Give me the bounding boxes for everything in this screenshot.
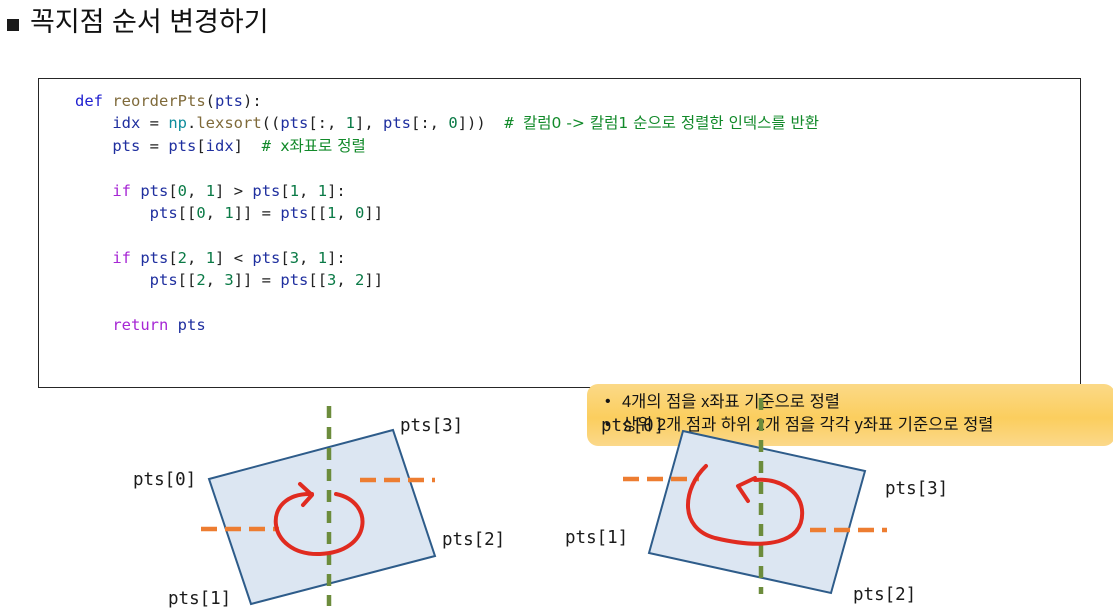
code-token: , bbox=[299, 249, 318, 267]
point-label-pts1: pts[1] bbox=[168, 589, 231, 609]
code-token: pts bbox=[280, 114, 308, 132]
page-title-text: 꼭지점 순서 변경하기 bbox=[30, 8, 269, 38]
code-token: 0 bbox=[178, 182, 187, 200]
square-bullet-icon bbox=[7, 19, 19, 31]
code-token: ]] = bbox=[234, 204, 281, 222]
quad-shape bbox=[209, 430, 435, 604]
code-token: 3 bbox=[224, 271, 233, 289]
code-token: 3 bbox=[327, 271, 336, 289]
code-token: pts bbox=[140, 182, 168, 200]
code-token: pts bbox=[150, 204, 178, 222]
page-title: 꼭지점 순서 변경하기 bbox=[7, 8, 269, 38]
code-token: ): bbox=[243, 92, 262, 110]
code-token: idx bbox=[112, 114, 149, 132]
point-label-pts3: pts[3] bbox=[400, 416, 463, 436]
code-token: . bbox=[187, 114, 196, 132]
code-token: , bbox=[299, 182, 318, 200]
code-token: , bbox=[187, 182, 206, 200]
code-line: def reorderPts(pts): bbox=[75, 90, 819, 112]
code-token: pts bbox=[252, 182, 280, 200]
code-line: pts = pts[idx] # x좌표로 정렬 bbox=[75, 135, 819, 157]
point-label-pts2: pts[2] bbox=[853, 585, 916, 605]
code-token: # bbox=[262, 137, 281, 155]
code-line: pts[[2, 3]] = pts[[3, 2]] bbox=[75, 269, 819, 291]
code-token: [ bbox=[196, 137, 205, 155]
code-token: [ bbox=[280, 182, 289, 200]
code-token: , bbox=[336, 204, 355, 222]
code-token: [[ bbox=[178, 271, 197, 289]
code-token: [[ bbox=[178, 204, 197, 222]
code-token: pts bbox=[112, 137, 149, 155]
diagram-after-reorder: pts[0] pts[1] pts[2] pts[3] bbox=[565, 398, 1035, 612]
code-token: pts bbox=[150, 271, 178, 289]
code-token: 칼럼0 -> 칼럼1 순으로 정렬한 인덱스를 반환 bbox=[523, 114, 819, 132]
code-token: 1 bbox=[206, 249, 215, 267]
code-token: 1 bbox=[206, 182, 215, 200]
code-token: ] < bbox=[215, 249, 252, 267]
code-listing[interactable]: def reorderPts(pts): idx = np.lexsort((p… bbox=[75, 90, 819, 336]
code-token: pts bbox=[140, 249, 168, 267]
code-token: 1 bbox=[346, 114, 355, 132]
code-token: [[ bbox=[308, 271, 327, 289]
code-token: 1 bbox=[318, 249, 327, 267]
point-label-pts0: pts[0] bbox=[133, 470, 196, 490]
code-token: pts bbox=[252, 249, 280, 267]
code-token: pts bbox=[383, 114, 411, 132]
code-token: np bbox=[168, 114, 187, 132]
code-token: if bbox=[112, 182, 140, 200]
point-label-pts2: pts[2] bbox=[442, 530, 505, 550]
code-token: [ bbox=[280, 249, 289, 267]
code-token: 2 bbox=[355, 271, 364, 289]
code-token: = bbox=[150, 137, 169, 155]
code-line: if pts[0, 1] > pts[1, 1]: bbox=[75, 180, 819, 202]
code-token: 3 bbox=[290, 249, 299, 267]
code-line: return pts bbox=[75, 314, 819, 336]
code-line bbox=[75, 224, 819, 246]
code-token: ]] = bbox=[234, 271, 281, 289]
code-token: [ bbox=[168, 249, 177, 267]
code-token: ], bbox=[355, 114, 383, 132]
code-token: 1 bbox=[318, 182, 327, 200]
code-token: return bbox=[112, 316, 177, 334]
code-token: , bbox=[187, 249, 206, 267]
code-token: # bbox=[504, 114, 523, 132]
code-token: = bbox=[150, 114, 169, 132]
quad-shape bbox=[649, 431, 865, 593]
code-token: ]] bbox=[364, 271, 383, 289]
code-token: 2 bbox=[178, 249, 187, 267]
code-line: if pts[2, 1] < pts[3, 1]: bbox=[75, 247, 819, 269]
code-token: reorderPts bbox=[112, 92, 205, 110]
point-label-pts3: pts[3] bbox=[885, 479, 948, 499]
code-panel: def reorderPts(pts): idx = np.lexsort((p… bbox=[38, 78, 1081, 388]
code-token: pts bbox=[178, 316, 206, 334]
code-token: if bbox=[112, 249, 140, 267]
code-token: pts bbox=[280, 204, 308, 222]
code-token: ] bbox=[234, 137, 262, 155]
code-token: pts bbox=[215, 92, 243, 110]
code-token: , bbox=[206, 204, 225, 222]
code-token: pts bbox=[168, 137, 196, 155]
code-token: [:, bbox=[411, 114, 448, 132]
code-line bbox=[75, 157, 819, 179]
code-token: 0 bbox=[196, 204, 205, 222]
code-token: 2 bbox=[196, 271, 205, 289]
code-token: ( bbox=[206, 92, 215, 110]
code-token: 1 bbox=[290, 182, 299, 200]
code-token: , bbox=[336, 271, 355, 289]
code-token: [:, bbox=[308, 114, 345, 132]
code-token: 0 bbox=[355, 204, 364, 222]
code-line: idx = np.lexsort((pts[:, 1], pts[:, 0]))… bbox=[75, 112, 819, 134]
code-token: def bbox=[75, 92, 112, 110]
code-token: x좌표로 정렬 bbox=[280, 137, 365, 155]
code-token: pts bbox=[280, 271, 308, 289]
code-token: (( bbox=[262, 114, 281, 132]
code-token: [[ bbox=[308, 204, 327, 222]
code-token: ] > bbox=[215, 182, 252, 200]
code-token: [ bbox=[168, 182, 177, 200]
code-token: idx bbox=[206, 137, 234, 155]
code-token: lexsort bbox=[196, 114, 261, 132]
code-token: ]: bbox=[327, 182, 346, 200]
code-token: , bbox=[206, 271, 225, 289]
code-token: ])) bbox=[458, 114, 505, 132]
code-line: pts[[0, 1]] = pts[[1, 0]] bbox=[75, 202, 819, 224]
code-token: ]] bbox=[364, 204, 383, 222]
diagram-before-reorder: pts[0] pts[1] pts[2] pts[3] bbox=[120, 398, 560, 612]
code-token: 1 bbox=[224, 204, 233, 222]
code-line bbox=[75, 292, 819, 314]
point-label-pts1: pts[1] bbox=[565, 528, 628, 548]
code-token: 0 bbox=[448, 114, 457, 132]
point-label-pts0: pts[0] bbox=[601, 416, 664, 436]
code-token: 1 bbox=[327, 204, 336, 222]
code-token: ]: bbox=[327, 249, 346, 267]
